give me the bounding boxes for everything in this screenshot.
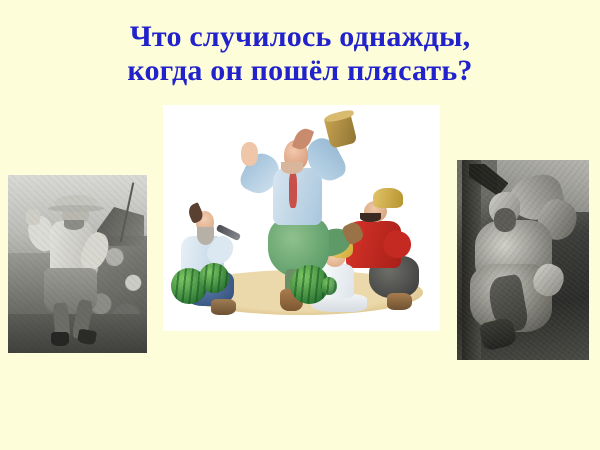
title-line-1: Что случилось однажды, [0,20,600,54]
image-cossacks-dancing-watercolor [163,105,440,331]
drawing-face [494,208,516,232]
watermelon-icon [199,263,229,292]
redman-hat [373,188,403,208]
page-title: Что случилось однажды, когда он пошёл пл… [0,20,600,87]
redman-boot [387,293,412,310]
image-dancing-cossack-photo [8,175,147,353]
musician-boot [211,299,236,315]
left-scene [8,175,147,353]
left-boot [51,332,69,346]
slide-canvas: Что случилось однажды, когда он пошёл пл… [0,0,600,450]
dancer-shirt [273,168,322,226]
dancer-mustache [281,162,303,174]
right-scene [457,160,589,360]
center-scene [163,105,440,331]
dancer-embroidered-collar [289,172,298,208]
image-dancer-charcoal-drawing [457,160,589,360]
raised-hand [26,209,40,225]
title-line-2: когда он пошёл плясать? [0,54,600,88]
dancer-left-hand [241,142,258,166]
